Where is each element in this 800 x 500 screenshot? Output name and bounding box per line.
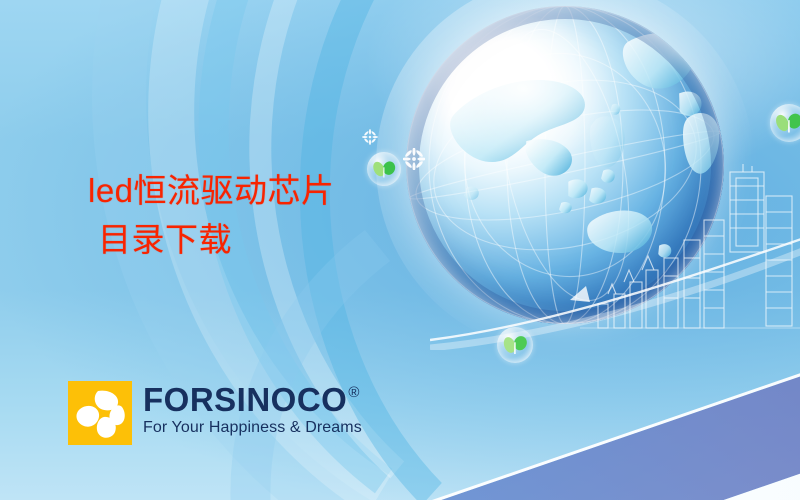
headline-line-1: led恒流驱动芯片 [88,172,335,209]
bubble-leaf-right [770,104,800,142]
brand-name-row: FORSINOCO ® [143,383,362,417]
brand-tagline: For Your Happiness & Dreams [143,418,362,437]
brand-logo[interactable]: FORSINOCO ® For Your Happiness & Dreams [68,381,362,445]
brand-name: FORSINOCO [143,383,347,417]
bubble-leaf-bottom [497,327,533,363]
page-title: led恒流驱动芯片 目录下载 [88,166,335,264]
leaf-icon [497,327,533,363]
daisy-icon-small [362,129,378,145]
headline-line-2: 目录下载 [88,215,335,264]
promo-banner: led恒流驱动芯片 目录下载 FORSINOCO ® For Your Happ… [0,0,800,500]
registered-mark: ® [348,385,360,400]
leaf-icon [770,104,800,142]
four-petal-flower-icon [68,381,132,445]
logo-mark [68,381,132,445]
brand-text: FORSINOCO ® For Your Happiness & Dreams [143,381,362,437]
bubble-leaf-left [367,152,401,186]
daisy-icon-large [403,148,425,170]
leaf-icon [367,152,401,186]
